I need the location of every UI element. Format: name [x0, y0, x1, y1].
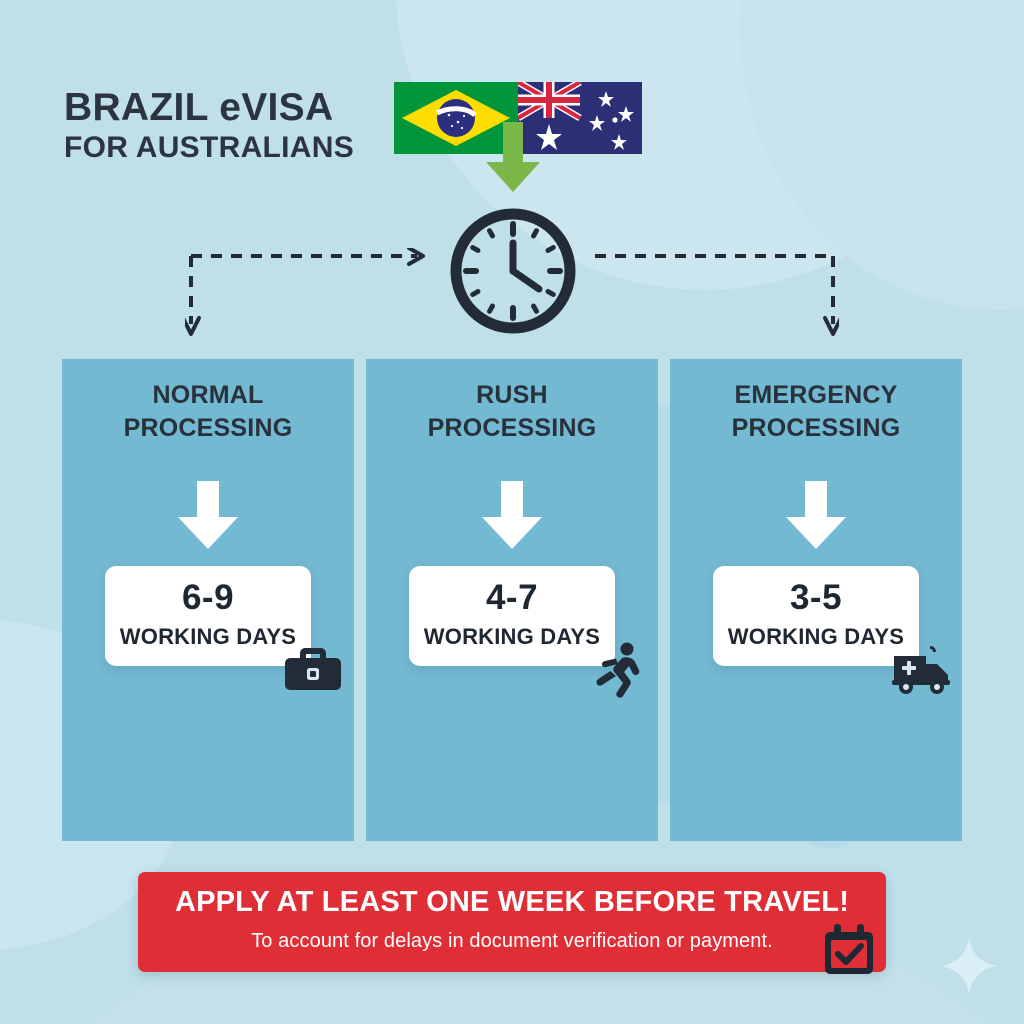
- panel-title-line1: EMERGENCY: [670, 379, 962, 412]
- days-range: 6-9: [113, 580, 303, 615]
- white-down-arrow-icon: [783, 481, 849, 549]
- briefcase-icon: [282, 640, 344, 698]
- panel-title-line1: RUSH: [366, 379, 658, 412]
- warning-banner[interactable]: APPLY AT LEAST ONE WEEK BEFORE TRAVEL! T…: [138, 872, 886, 972]
- processing-option-emergency[interactable]: EMERGENCY PROCESSING 3-5 WORKING DAYS: [670, 359, 962, 841]
- running-person-icon: [586, 640, 648, 698]
- calendar-check-icon: [821, 924, 877, 978]
- sparkle-icon: [938, 935, 1000, 997]
- ambulance-icon: [890, 640, 952, 698]
- white-down-arrow-icon: [479, 481, 545, 549]
- banner-headline: APPLY AT LEAST ONE WEEK BEFORE TRAVEL!: [138, 886, 886, 919]
- processing-options-group: NORMAL PROCESSING 6-9 WORKING DAYS: [62, 359, 962, 841]
- panel-title-rush: RUSH PROCESSING: [366, 379, 658, 445]
- days-card-rush: 4-7 WORKING DAYS: [409, 566, 615, 666]
- panel-title-emergency: EMERGENCY PROCESSING: [670, 379, 962, 445]
- title-secondary: FOR AUSTRALIANS: [64, 133, 394, 164]
- panel-title-line2: PROCESSING: [366, 412, 658, 445]
- days-card-emergency: 3-5 WORKING DAYS: [713, 566, 919, 666]
- green-down-arrow-icon: [484, 122, 542, 192]
- processing-option-normal[interactable]: NORMAL PROCESSING 6-9 WORKING DAYS: [62, 359, 354, 841]
- days-card-normal: 6-9 WORKING DAYS: [105, 566, 311, 666]
- days-label: WORKING DAYS: [417, 624, 607, 650]
- page-title: BRAZIL eVISA FOR AUSTRALIANS: [64, 88, 394, 163]
- days-label: WORKING DAYS: [113, 624, 303, 650]
- days-label: WORKING DAYS: [721, 624, 911, 650]
- panel-title-line2: PROCESSING: [670, 412, 962, 445]
- title-primary: BRAZIL eVISA: [64, 88, 394, 128]
- processing-option-rush[interactable]: RUSH PROCESSING 4-7 WORKING DAYS: [366, 359, 658, 841]
- clock-icon: [447, 205, 579, 337]
- panel-title-line1: NORMAL: [62, 379, 354, 412]
- panel-title-normal: NORMAL PROCESSING: [62, 379, 354, 445]
- banner-subtext: To account for delays in document verifi…: [138, 930, 886, 953]
- infographic-canvas: BRAZIL eVISA FOR AUSTRALIANS: [0, 0, 1024, 1024]
- days-range: 3-5: [721, 580, 911, 615]
- days-range: 4-7: [417, 580, 607, 615]
- dashed-arrow-left: [185, 248, 433, 342]
- white-down-arrow-icon: [175, 481, 241, 549]
- dashed-arrow-right: [591, 248, 839, 342]
- panel-title-line2: PROCESSING: [62, 412, 354, 445]
